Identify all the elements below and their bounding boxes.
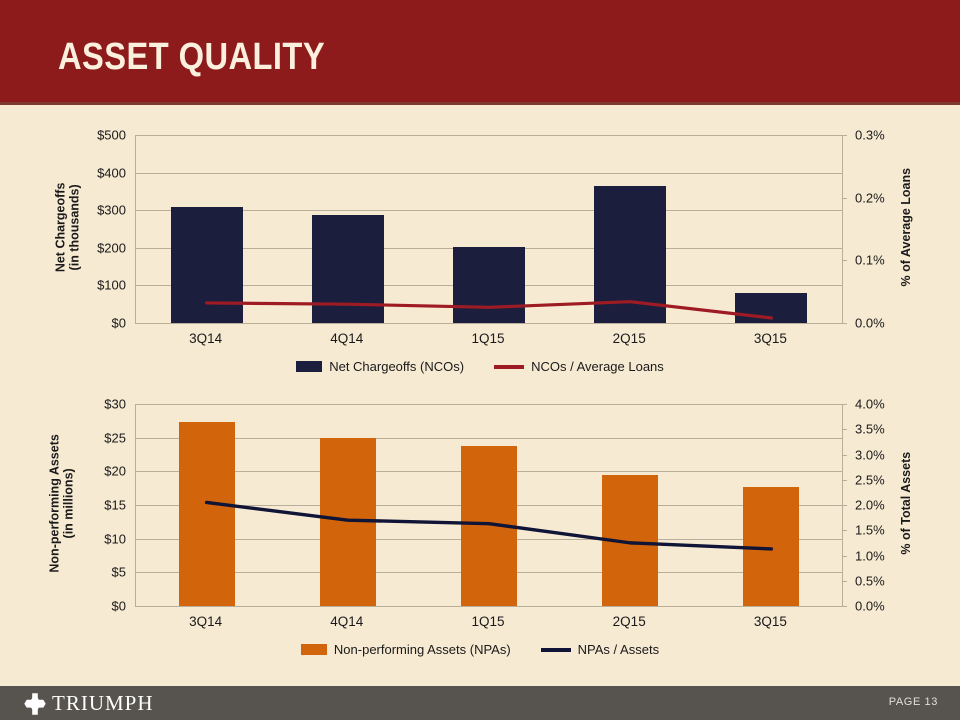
right-axis-tick-label: 0.3%	[855, 128, 885, 143]
y-axis-tick-label: $0	[112, 599, 126, 614]
line-series-overlay	[136, 135, 842, 323]
legend-bar-swatch	[296, 361, 322, 372]
y-axis-tick-label: $400	[97, 165, 126, 180]
x-axis-tick-label: 2Q15	[559, 614, 700, 629]
right-axis-tick	[842, 480, 847, 481]
legend-item[interactable]: NCOs / Average Loans	[494, 359, 664, 374]
right-axis-tick	[842, 530, 847, 531]
legend-bar-swatch	[301, 644, 327, 655]
right-axis-tick	[842, 455, 847, 456]
chart1-plot-area	[135, 135, 843, 324]
right-axis-tick	[842, 323, 847, 324]
right-axis-tick	[842, 429, 847, 430]
chart-net-chargeoffs: Net Chargeoffs (in thousands) % of Avera…	[0, 108, 960, 383]
brand-logo: TRIUMPH	[22, 691, 154, 716]
y-axis-tick-label: $30	[104, 397, 126, 412]
right-axis-tick-label: 2.5%	[855, 472, 885, 487]
legend-item[interactable]: NPAs / Assets	[541, 642, 659, 657]
slide-footer: TRIUMPH PAGE 13	[0, 686, 960, 720]
triumph-cross-icon	[22, 692, 48, 716]
y-axis-tick-label: $5	[112, 565, 126, 580]
right-axis-tick-label: 0.1%	[855, 253, 885, 268]
right-axis-tick-label: 3.5%	[855, 422, 885, 437]
line-path	[207, 302, 772, 318]
right-axis-tick	[842, 260, 847, 261]
right-axis-tick	[842, 505, 847, 506]
right-axis-tick-label: 1.5%	[855, 523, 885, 538]
right-axis-tick-label: 3.0%	[855, 447, 885, 462]
right-axis-tick	[842, 198, 847, 199]
chart2-left-axis-title: Non-performing Assets (in millions)	[48, 402, 77, 604]
legend-item[interactable]: Net Chargeoffs (NCOs)	[296, 359, 464, 374]
page-title: ASSET QUALITY	[58, 36, 325, 79]
chart1-left-axis-title: Net Chargeoffs (in thousands)	[54, 133, 83, 321]
right-axis-tick	[842, 404, 847, 405]
chart-non-performing-assets: Non-performing Assets (in millions) % of…	[0, 385, 960, 663]
right-axis-tick-label: 0.0%	[855, 599, 885, 614]
x-axis-tick-label: 2Q15	[559, 331, 700, 346]
right-axis-tick-label: 4.0%	[855, 397, 885, 412]
brand-name: TRIUMPH	[52, 691, 154, 716]
chart2-right-axis-title: % of Total Assets	[899, 402, 913, 604]
y-axis-tick-label: $0	[112, 316, 126, 331]
right-axis-tick	[842, 135, 847, 136]
y-axis-tick-label: $10	[104, 531, 126, 546]
line-path	[207, 502, 772, 548]
page-number: PAGE 13	[889, 696, 938, 708]
x-axis-tick-label: 1Q15	[417, 331, 558, 346]
x-axis-tick-label: 3Q14	[135, 331, 276, 346]
y-axis-tick-label: $200	[97, 240, 126, 255]
y-axis-tick-label: $25	[104, 430, 126, 445]
x-axis-tick-label: 4Q14	[276, 614, 417, 629]
right-axis-tick-label: 1.0%	[855, 548, 885, 563]
x-axis-tick-label: 3Q14	[135, 614, 276, 629]
y-axis-tick-label: $15	[104, 498, 126, 513]
chart2-legend: Non-performing Assets (NPAs)NPAs / Asset…	[0, 642, 960, 657]
chart1-right-axis-title: % of Average Loans	[899, 133, 913, 321]
right-axis-tick	[842, 581, 847, 582]
legend-item[interactable]: Non-performing Assets (NPAs)	[301, 642, 511, 657]
chart1-legend: Net Chargeoffs (NCOs)NCOs / Average Loan…	[0, 359, 960, 374]
right-axis-tick-label: 0.2%	[855, 190, 885, 205]
right-axis-tick-label: 0.0%	[855, 316, 885, 331]
right-axis-tick	[842, 556, 847, 557]
x-axis-tick-label: 3Q15	[700, 331, 841, 346]
right-axis-tick	[842, 606, 847, 607]
x-axis-tick-label: 3Q15	[700, 614, 841, 629]
y-axis-tick-label: $500	[97, 128, 126, 143]
y-axis-tick-label: $300	[97, 203, 126, 218]
legend-line-swatch	[494, 365, 524, 369]
legend-label: NPAs / Assets	[578, 642, 659, 657]
x-axis-tick-label: 4Q14	[276, 331, 417, 346]
right-axis-tick-label: 0.5%	[855, 573, 885, 588]
x-axis-tick-label: 1Q15	[417, 614, 558, 629]
chart2-plot-area	[135, 404, 843, 607]
line-series-overlay	[136, 404, 842, 606]
slide-header: ASSET QUALITY	[0, 0, 960, 105]
legend-label: NCOs / Average Loans	[531, 359, 664, 374]
legend-label: Non-performing Assets (NPAs)	[334, 642, 511, 657]
y-axis-tick-label: $100	[97, 278, 126, 293]
y-axis-tick-label: $20	[104, 464, 126, 479]
legend-line-swatch	[541, 648, 571, 652]
right-axis-tick-label: 2.0%	[855, 498, 885, 513]
legend-label: Net Chargeoffs (NCOs)	[329, 359, 464, 374]
